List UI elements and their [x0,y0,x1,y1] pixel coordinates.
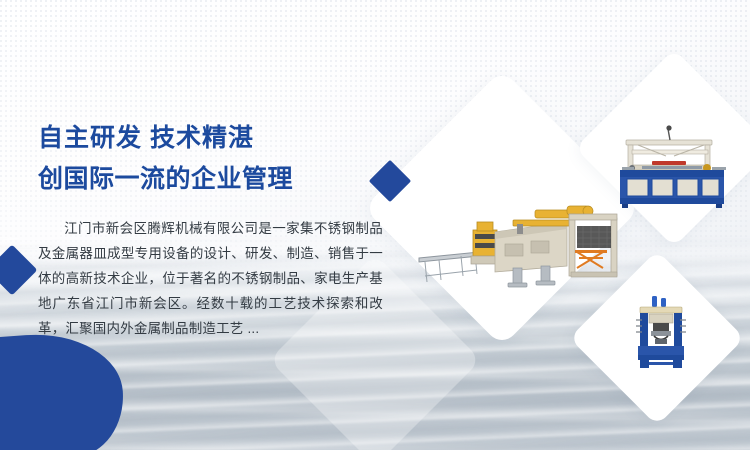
machine-production-line-image [417,196,622,288]
banner-copy-block: 自主研发 技术精湛 创国际一流的企业管理 江门市新会区腾辉机械有限公司是一家集不… [38,118,383,355]
headline-line-2: 创国际一流的企业管理 [38,159,383,200]
headline-line-1: 自主研发 技术精湛 [38,118,383,159]
accent-diamond-left [0,245,37,296]
paragraph-text: 江门市新会区腾辉机械有限公司是一家集不锈钢制品及金属器皿成型专用设备的设计、研发… [38,221,383,336]
machine-press-image [608,124,735,208]
company-intro-banner: 自主研发 技术精湛 创国际一流的企业管理 江门市新会区腾辉机械有限公司是一家集不… [0,0,750,450]
machine-punch-image [630,296,692,368]
headline: 自主研发 技术精湛 创国际一流的企业管理 [38,118,383,200]
company-description-paragraph: 江门市新会区腾辉机械有限公司是一家集不锈钢制品及金属器皿成型专用设备的设计、研发… [38,216,383,341]
